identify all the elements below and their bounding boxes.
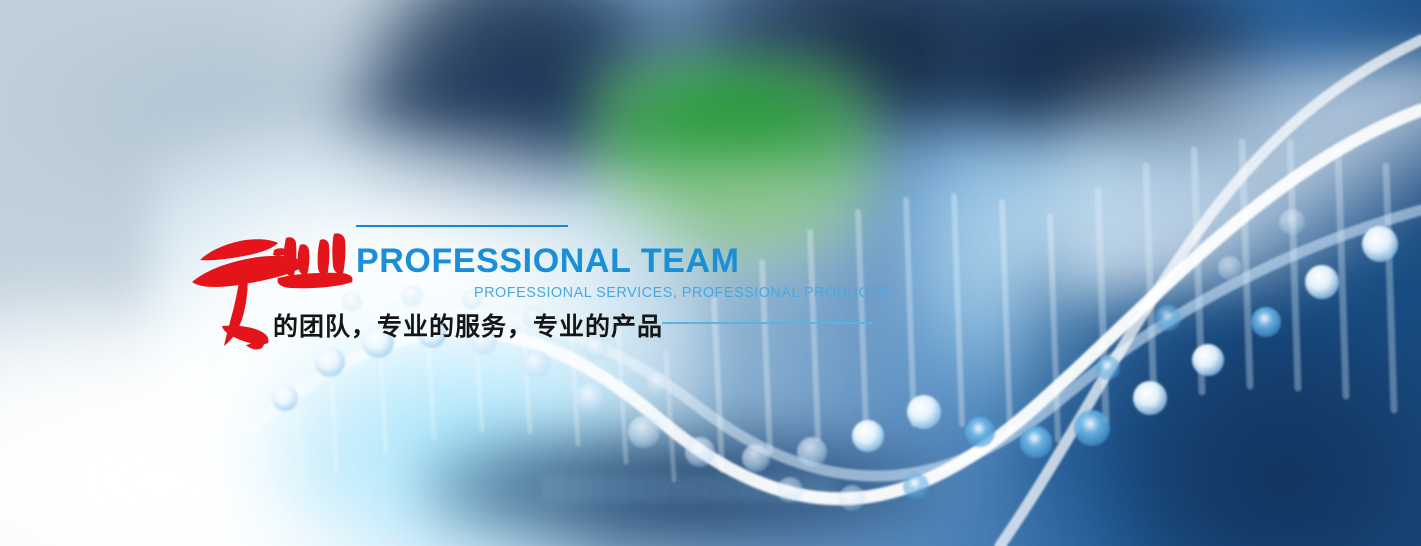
banner-subtitle: PROFESSIONAL SERVICES, PROFESSIONAL PROD…: [474, 285, 889, 301]
hero-banner: PROFESSIONAL TEAM PROFESSIONAL SERVICES,…: [0, 0, 1421, 546]
banner-title: PROFESSIONAL TEAM: [356, 243, 740, 280]
banner-text-block: PROFESSIONAL TEAM PROFESSIONAL SERVICES,…: [0, 0, 1421, 546]
decorative-rule-top: [356, 225, 568, 227]
decorative-rule-bottom: [662, 322, 873, 324]
banner-chinese-tagline: 的团队，专业的服务，专业的产品: [273, 307, 663, 343]
